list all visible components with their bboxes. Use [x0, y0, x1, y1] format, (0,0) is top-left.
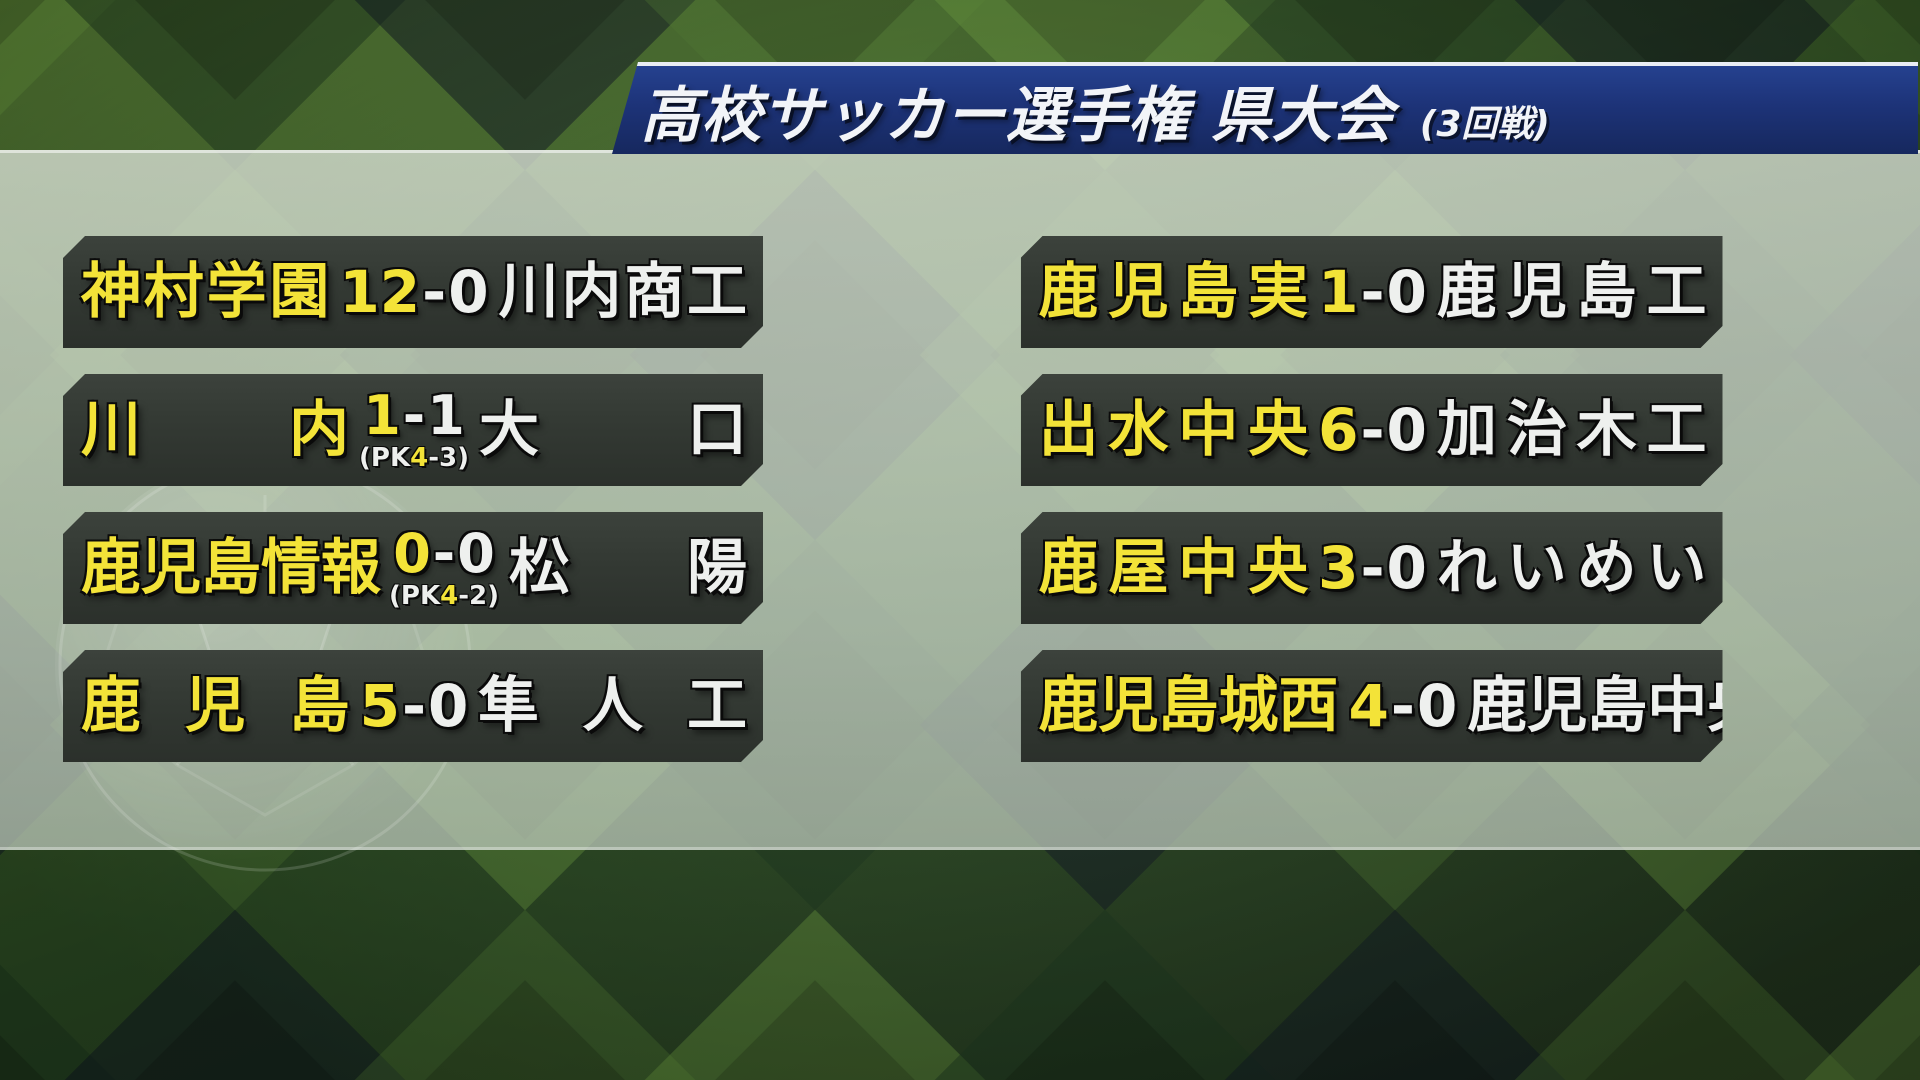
match-result-row: 出水中央6-0加治木工 [1021, 374, 1723, 486]
team-name-char: 城 [1219, 676, 1279, 736]
match-row-content: 鹿児島5-0隼人工 [63, 650, 763, 762]
pk-winner-score: 4 [440, 581, 458, 611]
results-column-right: 鹿児島実1-0鹿児島工出水中央6-0加治木工鹿屋中央3-0れいめい鹿児島城西4-… [963, 236, 1920, 856]
winner-score: 5 [360, 672, 400, 740]
team-name-char: 商 [624, 262, 684, 322]
match-row-content: 鹿児島城西4-0鹿児島中央 [1021, 650, 1723, 762]
losing-team-name: れいめい [1437, 538, 1707, 598]
match-result-row: 鹿児島5-0隼人工 [63, 650, 763, 762]
match-score: 12-0 [339, 263, 488, 321]
team-name-char: 人 [583, 676, 643, 736]
winner-score: 6 [1318, 396, 1358, 464]
score-block: 12-0 [339, 263, 488, 321]
team-name-char: 実 [1248, 262, 1308, 322]
match-score: 0-0 [393, 527, 495, 581]
penalty-score: (PK4-2) [389, 583, 499, 609]
team-name-char: 神 [81, 262, 141, 322]
team-name-char: 島 [1577, 262, 1637, 322]
team-name-char: 鹿 [81, 676, 141, 736]
match-score: 3-0 [1318, 539, 1427, 597]
team-name-char: 工 [687, 262, 747, 322]
pk-prefix: (PK [359, 443, 410, 473]
loser-score: 1 [427, 384, 465, 447]
winning-team-name: 出水中央 [1039, 400, 1309, 460]
team-name-char: 木 [1577, 400, 1637, 460]
pk-dash: - [458, 581, 469, 611]
score-block: 3-0 [1318, 539, 1427, 597]
team-name-char: 島 [1587, 676, 1647, 736]
team-name-char: 報 [321, 538, 381, 598]
team-name-char: 陽 [687, 538, 747, 598]
loser-score: 0 [428, 672, 468, 740]
results-grid: 神村学園12-0川内商工川内1-1(PK4-3)大口鹿児島情報0-0(PK4-2… [0, 236, 1920, 856]
team-name-char: 屋 [1108, 538, 1168, 598]
match-result-row: 鹿児島城西4-0鹿児島中央 [1021, 650, 1723, 762]
pk-dash: - [428, 443, 439, 473]
page-title: 高校サッカー選手権 県大会 [640, 67, 1394, 154]
losing-team-name: 鹿児島中央 [1467, 676, 1722, 736]
team-name-char: 西 [1279, 676, 1339, 736]
match-score: 6-0 [1318, 401, 1427, 459]
team-name-char: 鹿 [1039, 538, 1099, 598]
results-column-left: 神村学園12-0川内商工川内1-1(PK4-3)大口鹿児島情報0-0(PK4-2… [0, 236, 963, 856]
team-name-char: 央 [1707, 676, 1722, 736]
team-name-char: め [1577, 538, 1637, 598]
team-name-char: れ [1437, 538, 1497, 598]
match-score: 1-1 [363, 389, 465, 443]
team-name-char: 鹿 [1039, 262, 1099, 322]
winning-team-name: 川内 [81, 400, 349, 460]
team-name-char: 水 [1108, 400, 1168, 460]
winning-team-name: 鹿児島実 [1039, 262, 1309, 322]
score-block: 4-0 [1349, 677, 1458, 735]
match-row-content: 鹿児島実1-0鹿児島工 [1021, 236, 1723, 348]
winner-score: 0 [393, 522, 431, 585]
team-name-char: 情 [261, 538, 321, 598]
team-name-char: 央 [1248, 538, 1308, 598]
match-result-row: 鹿児島実1-0鹿児島工 [1021, 236, 1723, 348]
score-separator: - [400, 672, 428, 740]
pk-loser-score: 2 [469, 581, 487, 611]
team-name-char: 鹿 [1437, 262, 1497, 322]
team-name-char: 加 [1437, 400, 1497, 460]
team-name-char: 川 [81, 400, 141, 460]
team-name-char: 川 [499, 262, 559, 322]
score-block: 0-0(PK4-2) [389, 527, 499, 609]
team-name-char: 児 [1527, 676, 1587, 736]
team-name-char: い [1507, 538, 1567, 598]
team-name-char: 央 [1248, 400, 1308, 460]
loser-score: 0 [1387, 258, 1427, 326]
team-name-char: 島 [1159, 676, 1219, 736]
match-result-row: 川内1-1(PK4-3)大口 [63, 374, 763, 486]
loser-score: 0 [448, 258, 488, 326]
team-name-char: 中 [1178, 538, 1238, 598]
winning-team-name: 鹿屋中央 [1039, 538, 1309, 598]
winner-score: 1 [1318, 258, 1358, 326]
score-separator: - [420, 258, 448, 326]
match-row-content: 鹿屋中央3-0れいめい [1021, 512, 1723, 624]
loser-score: 0 [1387, 534, 1427, 602]
score-block: 6-0 [1318, 401, 1427, 459]
loser-score: 0 [1417, 672, 1457, 740]
title-banner: 高校サッカー選手権 県大会 (3回戦) [612, 62, 1918, 154]
team-name-char: 園 [269, 262, 329, 322]
team-name-char: 村 [144, 262, 204, 322]
score-separator: - [1358, 258, 1386, 326]
team-name-char: 内 [289, 400, 349, 460]
match-result-row: 鹿児島情報0-0(PK4-2)松陽 [63, 512, 763, 624]
team-name-char: 治 [1507, 400, 1567, 460]
match-row-content: 川内1-1(PK4-3)大口 [63, 374, 763, 486]
winner-score: 4 [1349, 672, 1389, 740]
winning-team-name: 鹿児島情報 [81, 538, 379, 598]
team-name-char: 出 [1039, 400, 1099, 460]
team-name-char: 児 [1507, 262, 1567, 322]
team-name-char: 島 [201, 538, 261, 598]
winner-score: 12 [339, 258, 420, 326]
losing-team-name: 松陽 [509, 538, 747, 598]
winner-score: 1 [363, 384, 401, 447]
team-name-char: 工 [1646, 262, 1706, 322]
pk-loser-score: 3 [439, 443, 457, 473]
team-name-char: 鹿 [1039, 676, 1099, 736]
team-name-char: 児 [185, 676, 245, 736]
match-result-row: 神村学園12-0川内商工 [63, 236, 763, 348]
team-name-char: 隼 [478, 676, 538, 736]
score-separator: - [1358, 534, 1386, 602]
losing-team-name: 鹿児島工 [1437, 262, 1707, 322]
team-name-char: 鹿 [1467, 676, 1527, 736]
pk-prefix: (PK [389, 581, 440, 611]
team-name-char: 児 [1108, 262, 1168, 322]
team-name-char: 中 [1178, 400, 1238, 460]
score-block: 1-1(PK4-3) [359, 389, 469, 471]
team-name-char: 口 [687, 400, 747, 460]
score-block: 1-0 [1318, 263, 1427, 321]
losing-team-name: 川内商工 [499, 262, 747, 322]
pk-winner-score: 4 [410, 443, 428, 473]
pk-suffix: ) [457, 443, 469, 473]
losing-team-name: 加治木工 [1437, 400, 1707, 460]
winning-team-name: 鹿児島 [81, 676, 350, 736]
loser-score: 0 [1387, 396, 1427, 464]
score-separator: - [401, 384, 427, 447]
winner-score: 3 [1318, 534, 1358, 602]
winning-team-name: 神村学園 [81, 262, 329, 322]
winning-team-name: 鹿児島城西 [1039, 676, 1339, 736]
team-name-char: 鹿 [81, 538, 141, 598]
losing-team-name: 大口 [479, 400, 747, 460]
match-row-content: 神村学園12-0川内商工 [63, 236, 763, 348]
match-result-row: 鹿屋中央3-0れいめい [1021, 512, 1723, 624]
team-name-char: 児 [1099, 676, 1159, 736]
match-score: 4-0 [1349, 677, 1458, 735]
team-name-char: 島 [1178, 262, 1238, 322]
match-row-content: 鹿児島情報0-0(PK4-2)松陽 [63, 512, 763, 624]
round-label: (3回戦) [1420, 95, 1550, 147]
team-name-char: 内 [561, 262, 621, 322]
score-separator: - [431, 522, 457, 585]
team-name-char: 工 [687, 676, 747, 736]
title-inner: 高校サッカー選手権 県大会 (3回戦) [612, 67, 1550, 154]
team-name-char: 工 [1646, 400, 1706, 460]
team-name-char: 島 [290, 676, 350, 736]
match-score: 1-0 [1318, 263, 1427, 321]
team-name-char: 松 [509, 538, 569, 598]
match-score: 5-0 [360, 677, 469, 735]
team-name-char: 児 [141, 538, 201, 598]
team-name-char: 学 [207, 262, 267, 322]
penalty-score: (PK4-3) [359, 445, 469, 471]
score-separator: - [1358, 396, 1386, 464]
pk-suffix: ) [487, 581, 499, 611]
losing-team-name: 隼人工 [478, 676, 747, 736]
loser-score: 0 [457, 522, 495, 585]
score-separator: - [1389, 672, 1417, 740]
team-name-char: い [1646, 538, 1706, 598]
team-name-char: 中 [1647, 676, 1707, 736]
score-block: 5-0 [360, 677, 469, 735]
match-row-content: 出水中央6-0加治木工 [1021, 374, 1723, 486]
team-name-char: 大 [479, 400, 539, 460]
